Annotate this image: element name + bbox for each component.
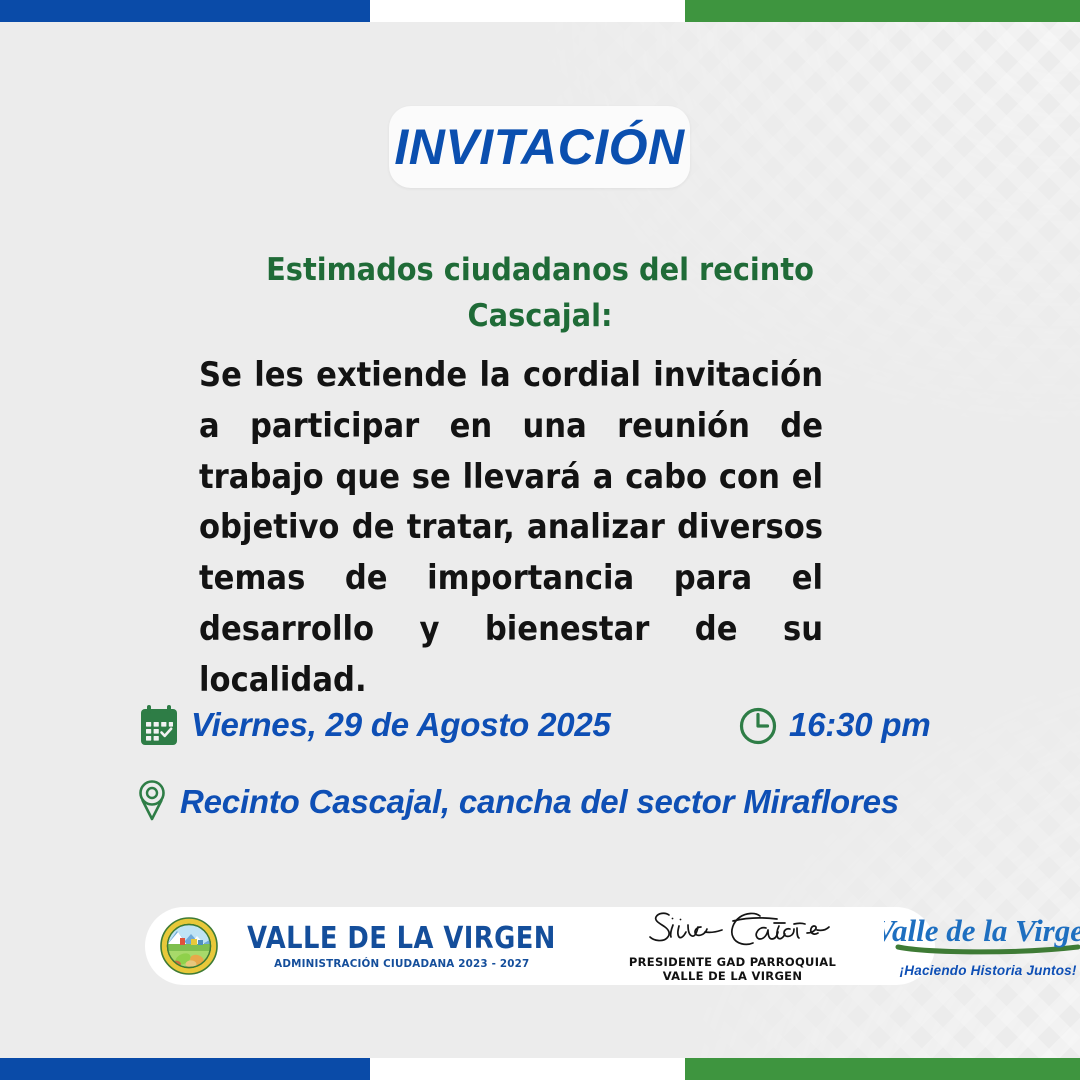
event-time: 16:30 pm — [789, 706, 930, 744]
top-bar-green-segment — [685, 0, 1080, 22]
municipality-logo-text: VALLE DE LA VIRGEN ADMINISTRACIÓN CIUDAD… — [222, 924, 581, 969]
municipal-emblem-icon — [160, 917, 218, 975]
event-date: Viernes, 29 de Agosto 2025 — [191, 706, 611, 744]
page-title: INVITACIÓN — [394, 118, 684, 176]
signature-block: PRESIDENTE GAD PARROQUIAL VALLE DE LA VI… — [629, 909, 836, 983]
bottom-bar-blue-segment — [0, 1058, 370, 1080]
body-paragraph: Se les extiende la cordial invitación a … — [199, 350, 823, 705]
municipality-name: VALLE DE LA VIRGEN — [247, 924, 556, 954]
bottom-bar-green-segment — [685, 1058, 1080, 1080]
bottom-bar-white-segment — [370, 1058, 685, 1080]
brand-script-logo: Valle de la Virgen — [884, 915, 1080, 962]
location-pin-icon — [130, 776, 174, 828]
footer-logo-bar: VALLE DE LA VIRGEN ADMINISTRACIÓN CIUDAD… — [145, 907, 935, 985]
municipality-subtitle: ADMINISTRACIÓN CIUDADANA 2023 - 2027 — [274, 958, 529, 969]
bottom-accent-bar — [0, 1058, 1080, 1080]
clock-icon — [737, 703, 779, 747]
detail-row-date: Viernes, 29 de Agosto 2025 — [138, 703, 611, 747]
top-bar-blue-segment — [0, 0, 370, 22]
brand-block: Valle de la Virgen ¡Haciendo Historia Ju… — [884, 915, 1080, 978]
municipality-logo: VALLE DE LA VIRGEN ADMINISTRACIÓN CIUDAD… — [160, 917, 581, 975]
invitation-poster: INVITACIÓN Estimados ciudadanos del reci… — [0, 0, 1080, 1080]
calendar-icon — [138, 703, 180, 747]
greeting-text: Estimados ciudadanos del recinto Cascaja… — [224, 248, 856, 339]
signature-title-line2: VALLE DE LA VIRGEN — [663, 970, 803, 984]
top-accent-bar — [0, 0, 1080, 22]
detail-row-place: Recinto Cascajal, cancha del sector Mira… — [130, 776, 899, 828]
event-place: Recinto Cascajal, cancha del sector Mira… — [180, 783, 899, 821]
signature-title-line1: PRESIDENTE GAD PARROQUIAL — [629, 956, 836, 970]
svg-text:Valle de la Virgen: Valle de la Virgen — [884, 915, 1080, 948]
detail-row-time: 16:30 pm — [737, 703, 930, 747]
title-badge: INVITACIÓN — [389, 106, 690, 188]
brand-tagline: ¡Haciendo Historia Juntos! — [900, 963, 1077, 978]
handwritten-signature — [635, 909, 831, 956]
top-bar-white-segment — [370, 0, 685, 22]
